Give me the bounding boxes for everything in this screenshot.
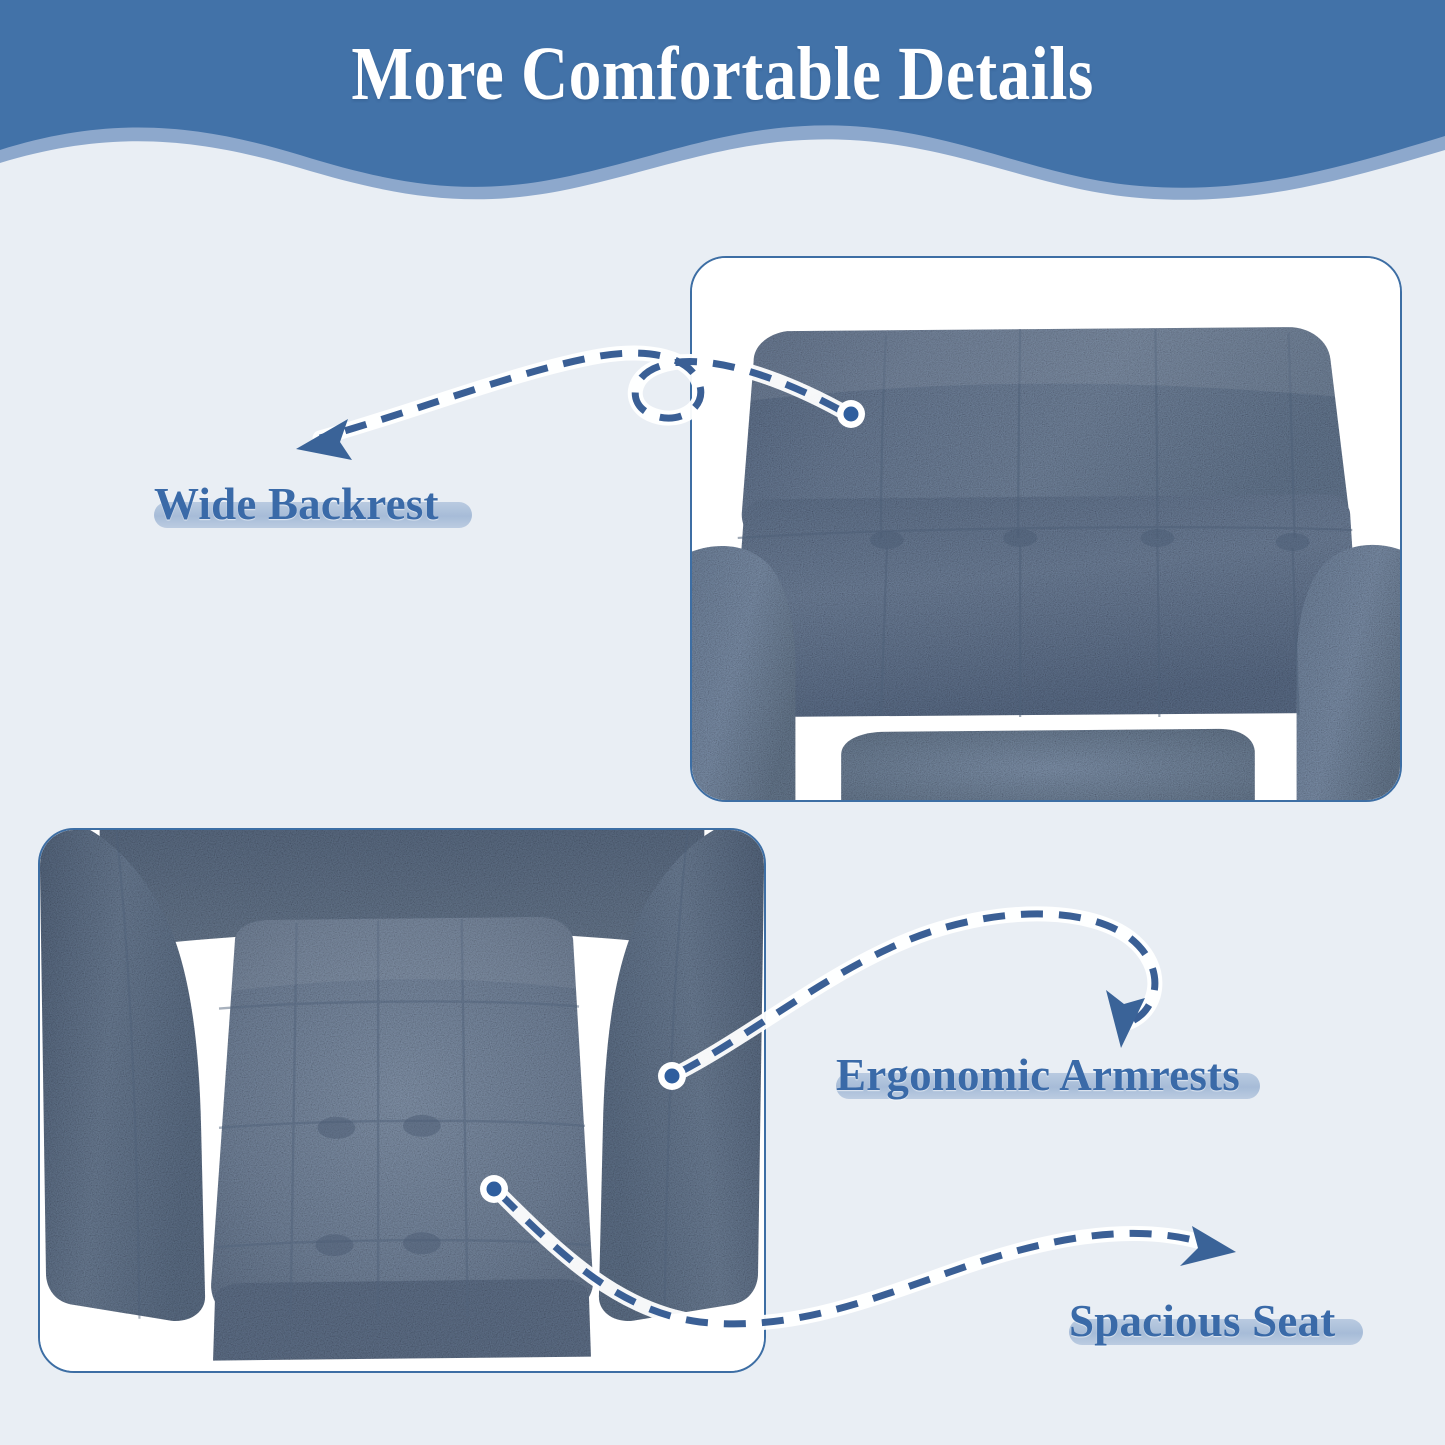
callout-text-armrests: Ergonomic Armrests: [836, 1049, 1240, 1101]
backrest-photo: [692, 258, 1400, 800]
infographic-root: More Comfortable Details: [0, 0, 1445, 1445]
callout-text-seat: Spacious Seat: [1069, 1295, 1335, 1347]
header-banner: More Comfortable Details: [0, 0, 1445, 200]
callout-label-seat: Spacious Seat: [1069, 1295, 1335, 1347]
panel-seat: [38, 828, 766, 1373]
callout-text-backrest: Wide Backrest: [154, 478, 439, 530]
panel-backrest: [690, 256, 1402, 802]
callout-label-armrests: Ergonomic Armrests: [836, 1049, 1240, 1101]
callout-label-backrest: Wide Backrest: [154, 478, 439, 530]
page-title: More Comfortable Details: [101, 28, 1344, 120]
seat-photo: [40, 830, 764, 1371]
